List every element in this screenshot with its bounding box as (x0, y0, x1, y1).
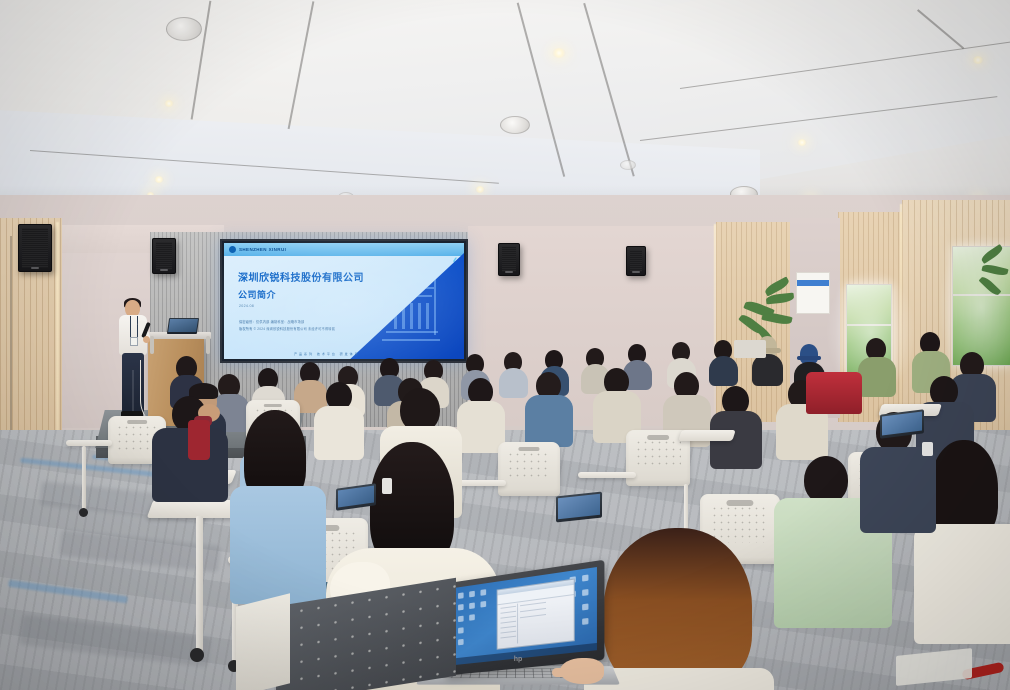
slide-footer: 产品系列 技术平台 研发体系 (294, 352, 360, 356)
company-logo-text: SHENZHEN XINRUI (239, 247, 286, 252)
wall-speaker (152, 238, 176, 274)
slide: SHENZHEN XINRUI ❮ 深圳欣锐科技股份有限公司 公司简介 2024… (224, 243, 464, 359)
chair-handle (264, 404, 282, 408)
slide-title: 深圳欣锐科技股份有限公司 (238, 269, 364, 284)
chair-back-foreground (236, 593, 290, 690)
presentation-screen[interactable]: SHENZHEN XINRUI ❮ 深圳欣锐科技股份有限公司 公司简介 2024… (220, 239, 468, 363)
chair-armrest (578, 472, 636, 478)
ceiling-speaker-icon (500, 116, 530, 134)
chair-caster (79, 508, 88, 517)
tablet-arm-desk[interactable] (678, 430, 736, 441)
ceiling-diffuser-icon (620, 160, 636, 170)
laptop-screen[interactable] (453, 567, 597, 665)
cap-brim (797, 356, 821, 360)
paper-cup[interactable] (922, 442, 933, 456)
spreadsheet-window[interactable] (496, 579, 574, 650)
training-chair[interactable] (498, 442, 560, 496)
wall-speaker-left (18, 224, 52, 272)
chair-handle (647, 435, 669, 439)
red-bag (188, 420, 210, 460)
conference-room-photo: SHENZHEN XINRUI ❮ 深圳欣锐科技股份有限公司 公司简介 2024… (0, 0, 1010, 690)
chair-handle (518, 447, 539, 451)
slide-header: SHENZHEN XINRUI (224, 243, 464, 256)
ceiling-speaker-icon (166, 17, 202, 41)
water-bottle[interactable] (382, 478, 392, 494)
wall-poster (796, 272, 830, 314)
chair-handle (127, 420, 147, 424)
hp-logo-icon: hp (514, 656, 523, 663)
presenter-badge (130, 337, 138, 346)
podium-laptop-screen (168, 319, 198, 332)
presenter-hand (143, 336, 150, 343)
potted-plant (978, 246, 1010, 316)
chair-armrest (66, 440, 112, 446)
poster-header-band (797, 280, 829, 286)
audience-laptop[interactable] (556, 492, 602, 523)
slide-subtitle: 公司简介 (238, 288, 276, 301)
user-finger (552, 668, 568, 677)
audience-tablet[interactable] (734, 340, 766, 358)
chair-caster (190, 648, 204, 662)
red-jacket (806, 372, 862, 414)
slide-meta-line-2: 版权所有 © 2024 深圳欣锐科技股份有限公司 未经许可不得转载 (239, 326, 335, 331)
slide-meta-line-1: 保密级别：仅供内部 编制科室：战略市场部 (239, 319, 304, 324)
wall-speaker-right (626, 246, 646, 276)
podium-laptop (167, 318, 199, 334)
chair-handle (726, 500, 753, 506)
slide-date: 2024.08 (239, 304, 254, 308)
wall-light-strip (900, 204, 902, 418)
company-logo-icon (229, 246, 236, 253)
wall-speaker (498, 243, 520, 276)
presenter-lanyard (130, 316, 138, 338)
